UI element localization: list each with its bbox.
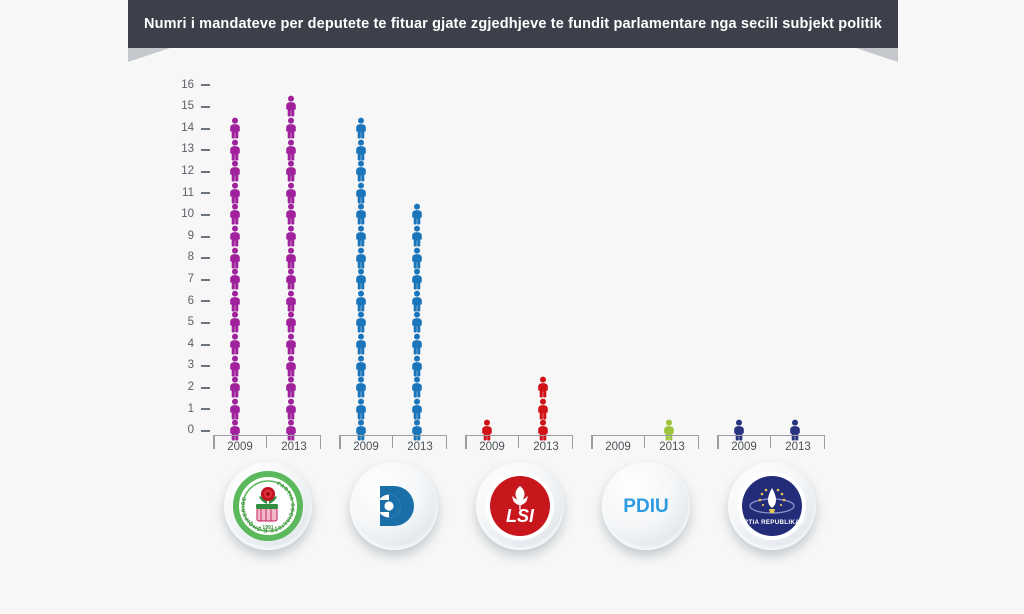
person-icon: [283, 290, 299, 311]
person-icon: [283, 226, 299, 247]
year-axis-bracket: 20092013: [339, 435, 447, 455]
person-icon: [353, 398, 369, 419]
person-icon: [353, 139, 369, 160]
person-icon: [283, 334, 299, 355]
pr-logo[interactable]: PARTIA REPUBLIKANE: [728, 462, 816, 550]
party-group-ps: 20092013: [205, 78, 331, 448]
year-label-2009: 2009: [591, 436, 645, 455]
pictogram-columns: [457, 78, 583, 433]
chart-groups: 2009201320092013200920132009201320092013: [205, 78, 855, 448]
person-icon: [409, 377, 425, 398]
party-group-pr: 20092013: [709, 78, 835, 448]
person-icon: [283, 204, 299, 225]
year-label-2009: 2009: [465, 436, 519, 455]
year-label-2013: 2013: [267, 436, 321, 455]
person-icon: [535, 377, 551, 398]
party-group-pd: 20092013: [331, 78, 457, 448]
person-icon: [353, 377, 369, 398]
person-icon: [353, 182, 369, 203]
y-axis-tick-label: 9: [188, 231, 194, 243]
ribbon-fold-left-icon: [128, 48, 170, 62]
person-icon: [227, 334, 243, 355]
person-icon: [283, 312, 299, 333]
person-icon: [353, 355, 369, 376]
year-label-2013: 2013: [519, 436, 573, 455]
year-axis-bracket: 20092013: [717, 435, 825, 455]
person-icon: [283, 269, 299, 290]
pictogram-column-pr-2009: [711, 78, 767, 433]
logo-slot-pdiu-logo: PDIU: [583, 462, 709, 562]
lsi-logo[interactable]: LSI: [476, 462, 564, 550]
person-icon: [353, 118, 369, 139]
person-icon: [227, 226, 243, 247]
person-icon: [283, 161, 299, 182]
header-ribbon: Numri i mandateve per deputete te fituar…: [0, 0, 1024, 70]
ps-logo-artwork-icon: PARTIA SOCIALISTE E SHQIPERISE• 1991 •: [232, 470, 304, 542]
person-icon: [409, 398, 425, 419]
person-icon: [353, 247, 369, 268]
person-icon: [409, 226, 425, 247]
y-axis-tick-label: 14: [181, 123, 194, 135]
person-icon: [353, 226, 369, 247]
person-icon: [535, 398, 551, 419]
person-icon: [283, 355, 299, 376]
person-icon: [353, 161, 369, 182]
pictogram-column-ps-2009: [207, 78, 263, 433]
y-axis-tick-label: 15: [181, 101, 194, 113]
year-axis-bracket: 20092013: [213, 435, 321, 455]
person-icon: [283, 247, 299, 268]
svg-text:LSI: LSI: [506, 506, 535, 526]
year-label-2009: 2009: [213, 436, 267, 455]
pictogram-columns: [583, 78, 709, 433]
person-icon: [227, 139, 243, 160]
year-axis-bracket: 20092013: [591, 435, 699, 455]
person-icon: [227, 269, 243, 290]
y-axis-tick-label: 10: [181, 209, 194, 221]
pictogram-column-ps-2013: [263, 78, 319, 433]
year-axis-bracket: 20092013: [465, 435, 573, 455]
person-icon: [409, 312, 425, 333]
year-label-2009: 2009: [339, 436, 393, 455]
pdiu-logo[interactable]: PDIU: [602, 462, 690, 550]
person-icon: [353, 334, 369, 355]
logo-slot-pd-logo: [331, 462, 457, 562]
person-icon: [283, 118, 299, 139]
person-icon: [283, 398, 299, 419]
y-axis-tick-label: 8: [188, 252, 194, 264]
logo-slot-ps-logo: PARTIA SOCIALISTE E SHQIPERISE• 1991 •: [205, 462, 331, 562]
person-icon: [227, 290, 243, 311]
y-axis: 161514131211109876543210: [150, 78, 210, 438]
y-axis-tick-label: 3: [188, 360, 194, 372]
y-axis-tick-label: 12: [181, 166, 194, 178]
person-icon: [353, 204, 369, 225]
person-icon: [227, 398, 243, 419]
y-axis-tick-label: 1: [188, 404, 194, 416]
lsi-logo-artwork-icon: LSI: [484, 470, 556, 542]
pictogram-columns: [709, 78, 835, 433]
person-icon: [409, 247, 425, 268]
y-axis-tick-label: 2: [188, 382, 194, 394]
person-icon: [227, 247, 243, 268]
pictogram-column-pdiu-2009: [585, 78, 641, 433]
party-group-pdiu: 20092013: [583, 78, 709, 448]
pictogram-column-pd-2009: [333, 78, 389, 433]
ribbon-fold-right-icon: [856, 48, 898, 62]
header-bar: Numri i mandateve per deputete te fituar…: [128, 0, 898, 48]
y-axis-tick-label: 7: [188, 274, 194, 286]
year-label-2013: 2013: [645, 436, 699, 455]
party-logos-row: PARTIA SOCIALISTE E SHQIPERISE• 1991 •LS…: [205, 462, 855, 562]
y-axis-tick-label: 6: [188, 296, 194, 308]
person-icon: [409, 290, 425, 311]
person-icon: [227, 355, 243, 376]
svg-text:PARTIA REPUBLIKANE: PARTIA REPUBLIKANE: [736, 519, 808, 526]
person-icon: [353, 312, 369, 333]
pd-logo[interactable]: [350, 462, 438, 550]
y-axis-tick-label: 0: [188, 425, 194, 437]
y-axis-tick-label: 13: [181, 144, 194, 156]
pdiu-logo-artwork-icon: PDIU: [610, 470, 682, 542]
pictogram-column-pdiu-2013: [641, 78, 697, 433]
page-title: Numri i mandateve per deputete te fituar…: [144, 16, 882, 32]
person-icon: [227, 377, 243, 398]
person-icon: [409, 355, 425, 376]
year-label-2013: 2013: [393, 436, 447, 455]
person-icon: [227, 118, 243, 139]
pictogram-column-lsi-2009: [459, 78, 515, 433]
person-icon: [353, 269, 369, 290]
svg-text:PDIU: PDIU: [623, 496, 668, 517]
pictogram-column-pr-2013: [767, 78, 823, 433]
year-label-2013: 2013: [771, 436, 825, 455]
pictogram-columns: [205, 78, 331, 433]
pictogram-chart: 161514131211109876543210 200920132009201…: [0, 78, 1024, 448]
pictogram-columns: [331, 78, 457, 433]
y-axis-tick-label: 5: [188, 317, 194, 329]
person-icon: [227, 161, 243, 182]
person-icon: [283, 377, 299, 398]
person-icon: [409, 269, 425, 290]
pd-logo-artwork-icon: [358, 470, 430, 542]
party-group-lsi: 20092013: [457, 78, 583, 448]
person-icon: [283, 182, 299, 203]
logo-slot-lsi-logo: LSI: [457, 462, 583, 562]
y-axis-tick-label: 4: [188, 339, 194, 351]
pictogram-column-pd-2013: [389, 78, 445, 433]
svg-text:• 1991 •: • 1991 •: [259, 525, 277, 531]
person-icon: [353, 290, 369, 311]
person-icon: [227, 204, 243, 225]
person-icon: [283, 139, 299, 160]
ps-logo[interactable]: PARTIA SOCIALISTE E SHQIPERISE• 1991 •: [224, 462, 312, 550]
year-label-2009: 2009: [717, 436, 771, 455]
y-axis-tick-label: 11: [182, 188, 194, 200]
person-icon: [227, 182, 243, 203]
person-icon: [227, 312, 243, 333]
person-icon: [409, 204, 425, 225]
person-icon: [409, 334, 425, 355]
y-axis-tick-label: 16: [181, 80, 194, 92]
logo-slot-pr-logo: PARTIA REPUBLIKANE: [709, 462, 835, 562]
infographic-root: Numri i mandateve per deputete te fituar…: [0, 0, 1024, 614]
pictogram-column-lsi-2013: [515, 78, 571, 433]
person-icon: [283, 96, 299, 117]
pr-logo-artwork-icon: PARTIA REPUBLIKANE: [736, 470, 808, 542]
